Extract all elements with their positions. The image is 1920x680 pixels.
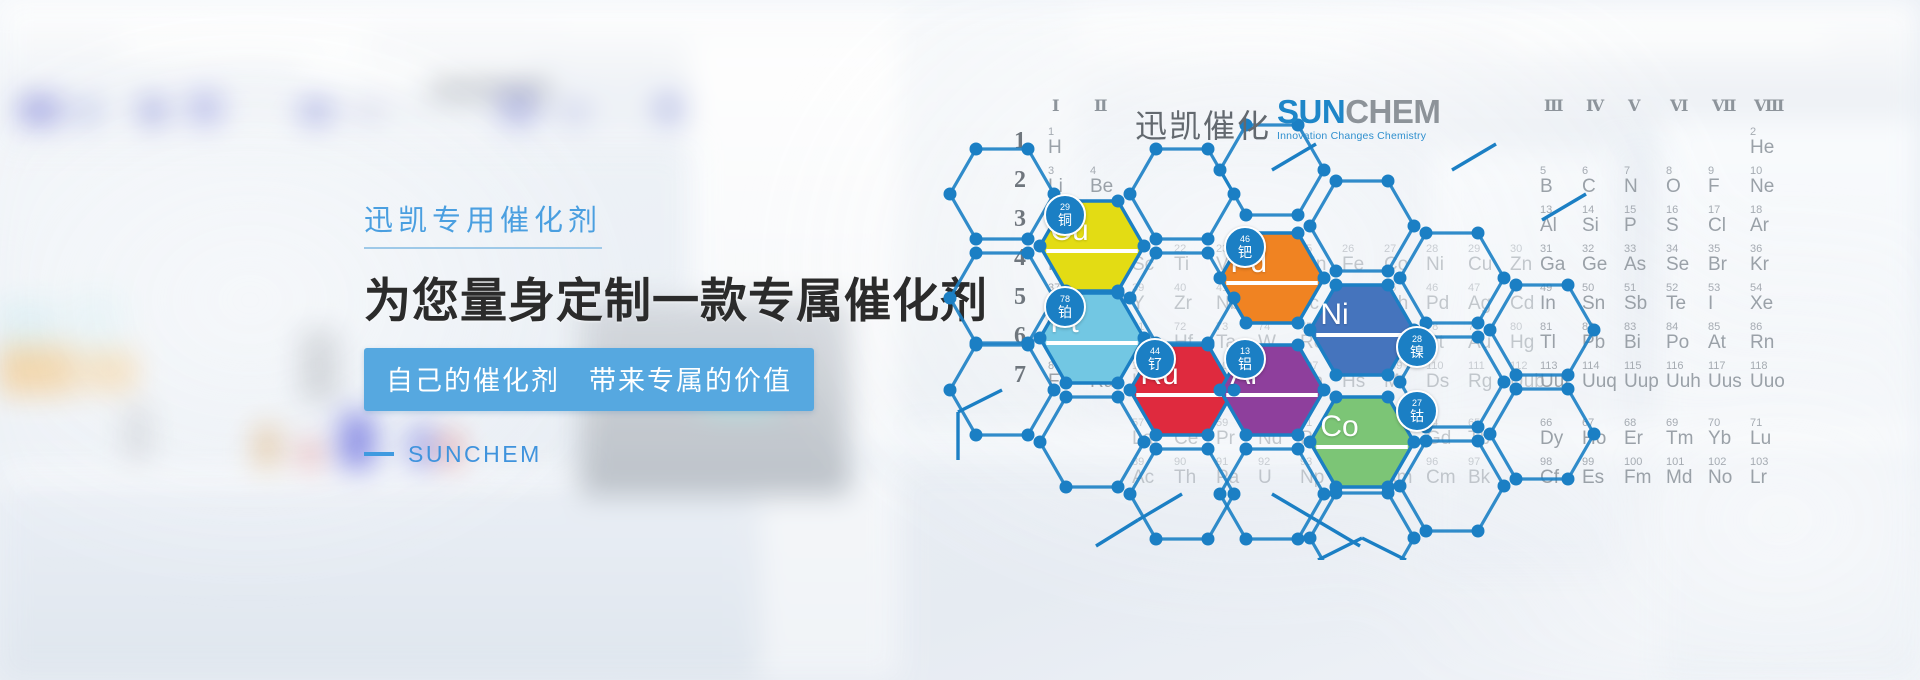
element-cell: 10Ne [1750, 165, 1790, 197]
badge-atomic-number: 78 [1060, 295, 1070, 304]
element-label-co: Co [1320, 410, 1358, 444]
badge-atomic-number: 28 [1412, 335, 1422, 344]
signature-text: SUNCHEM [408, 441, 542, 468]
badge-chinese-name: 镍 [1410, 345, 1424, 359]
tagline-bar: 自己的催化剂 带来专属的价值 [364, 348, 814, 411]
element-symbol: Xe [1750, 294, 1790, 314]
element-badge-ru[interactable]: 44钌 [1134, 338, 1176, 380]
element-cell: 36Kr [1750, 243, 1790, 275]
element-badge-al[interactable]: 13铝 [1224, 338, 1266, 380]
group-label: Ⅷ [1754, 96, 1784, 116]
logo-wordmark: SUNCHEM [1277, 95, 1440, 128]
element-cell: 118Uuo [1750, 360, 1790, 392]
element-cell: 86Rn [1750, 321, 1790, 353]
dash-icon [364, 452, 394, 456]
badge-atomic-number: 27 [1412, 399, 1422, 408]
logo-english: SUNCHEM Innovation Changes Chemistry [1277, 95, 1440, 142]
hero-banner: 迅凯专用催化剂 为您量身定制一款专属催化剂 自己的催化剂 带来专属的价值 SUN… [0, 0, 1920, 680]
element-symbol: Ne [1750, 177, 1790, 197]
element-label-ni: Ni [1320, 298, 1348, 332]
element-symbol: Uuo [1750, 372, 1790, 392]
element-symbol: Rn [1750, 333, 1790, 353]
badge-chinese-name: 钌 [1148, 357, 1162, 371]
badge-chinese-name: 铂 [1058, 305, 1072, 319]
element-cell: 2He [1750, 126, 1790, 158]
logo-chinese-name: 迅凯催化 [1135, 110, 1271, 142]
element-symbol: He [1750, 138, 1790, 158]
logo-tagline: Innovation Changes Chemistry [1277, 131, 1440, 142]
element-badge-cu[interactable]: 29铜 [1044, 194, 1086, 236]
element-symbol: Ar [1750, 216, 1790, 236]
element-symbol: Kr [1750, 255, 1790, 275]
element-symbol: Lu [1750, 429, 1790, 449]
badge-atomic-number: 46 [1240, 235, 1250, 244]
badge-chinese-name: 铝 [1238, 357, 1252, 371]
element-badge-co[interactable]: 27钴 [1396, 390, 1438, 432]
logo-chem: CHEM [1345, 93, 1440, 130]
element-cell: 103Lr [1750, 456, 1790, 488]
badge-chinese-name: 铜 [1058, 213, 1072, 227]
badge-chinese-name: 钯 [1238, 245, 1252, 259]
badge-atomic-number: 29 [1060, 203, 1070, 212]
eyebrow-text: 迅凯专用催化剂 [364, 206, 602, 249]
badge-chinese-name: 钴 [1410, 409, 1424, 423]
badge-atomic-number: 44 [1150, 347, 1160, 356]
element-badge-pd[interactable]: 46钯 [1224, 226, 1266, 268]
element-cell: 54Xe [1750, 282, 1790, 314]
company-logo: 迅凯催化 SUNCHEM Innovation Changes Chemistr… [1135, 95, 1440, 142]
element-cell: 71Lu [1750, 417, 1790, 449]
element-badge-ni[interactable]: 28镍 [1396, 326, 1438, 368]
element-badge-pt[interactable]: 78铂 [1044, 286, 1086, 328]
badge-atomic-number: 13 [1240, 347, 1250, 356]
element-cell: 18Ar [1750, 204, 1790, 236]
logo-sun: SUN [1277, 93, 1345, 130]
element-symbol: Lr [1750, 468, 1790, 488]
